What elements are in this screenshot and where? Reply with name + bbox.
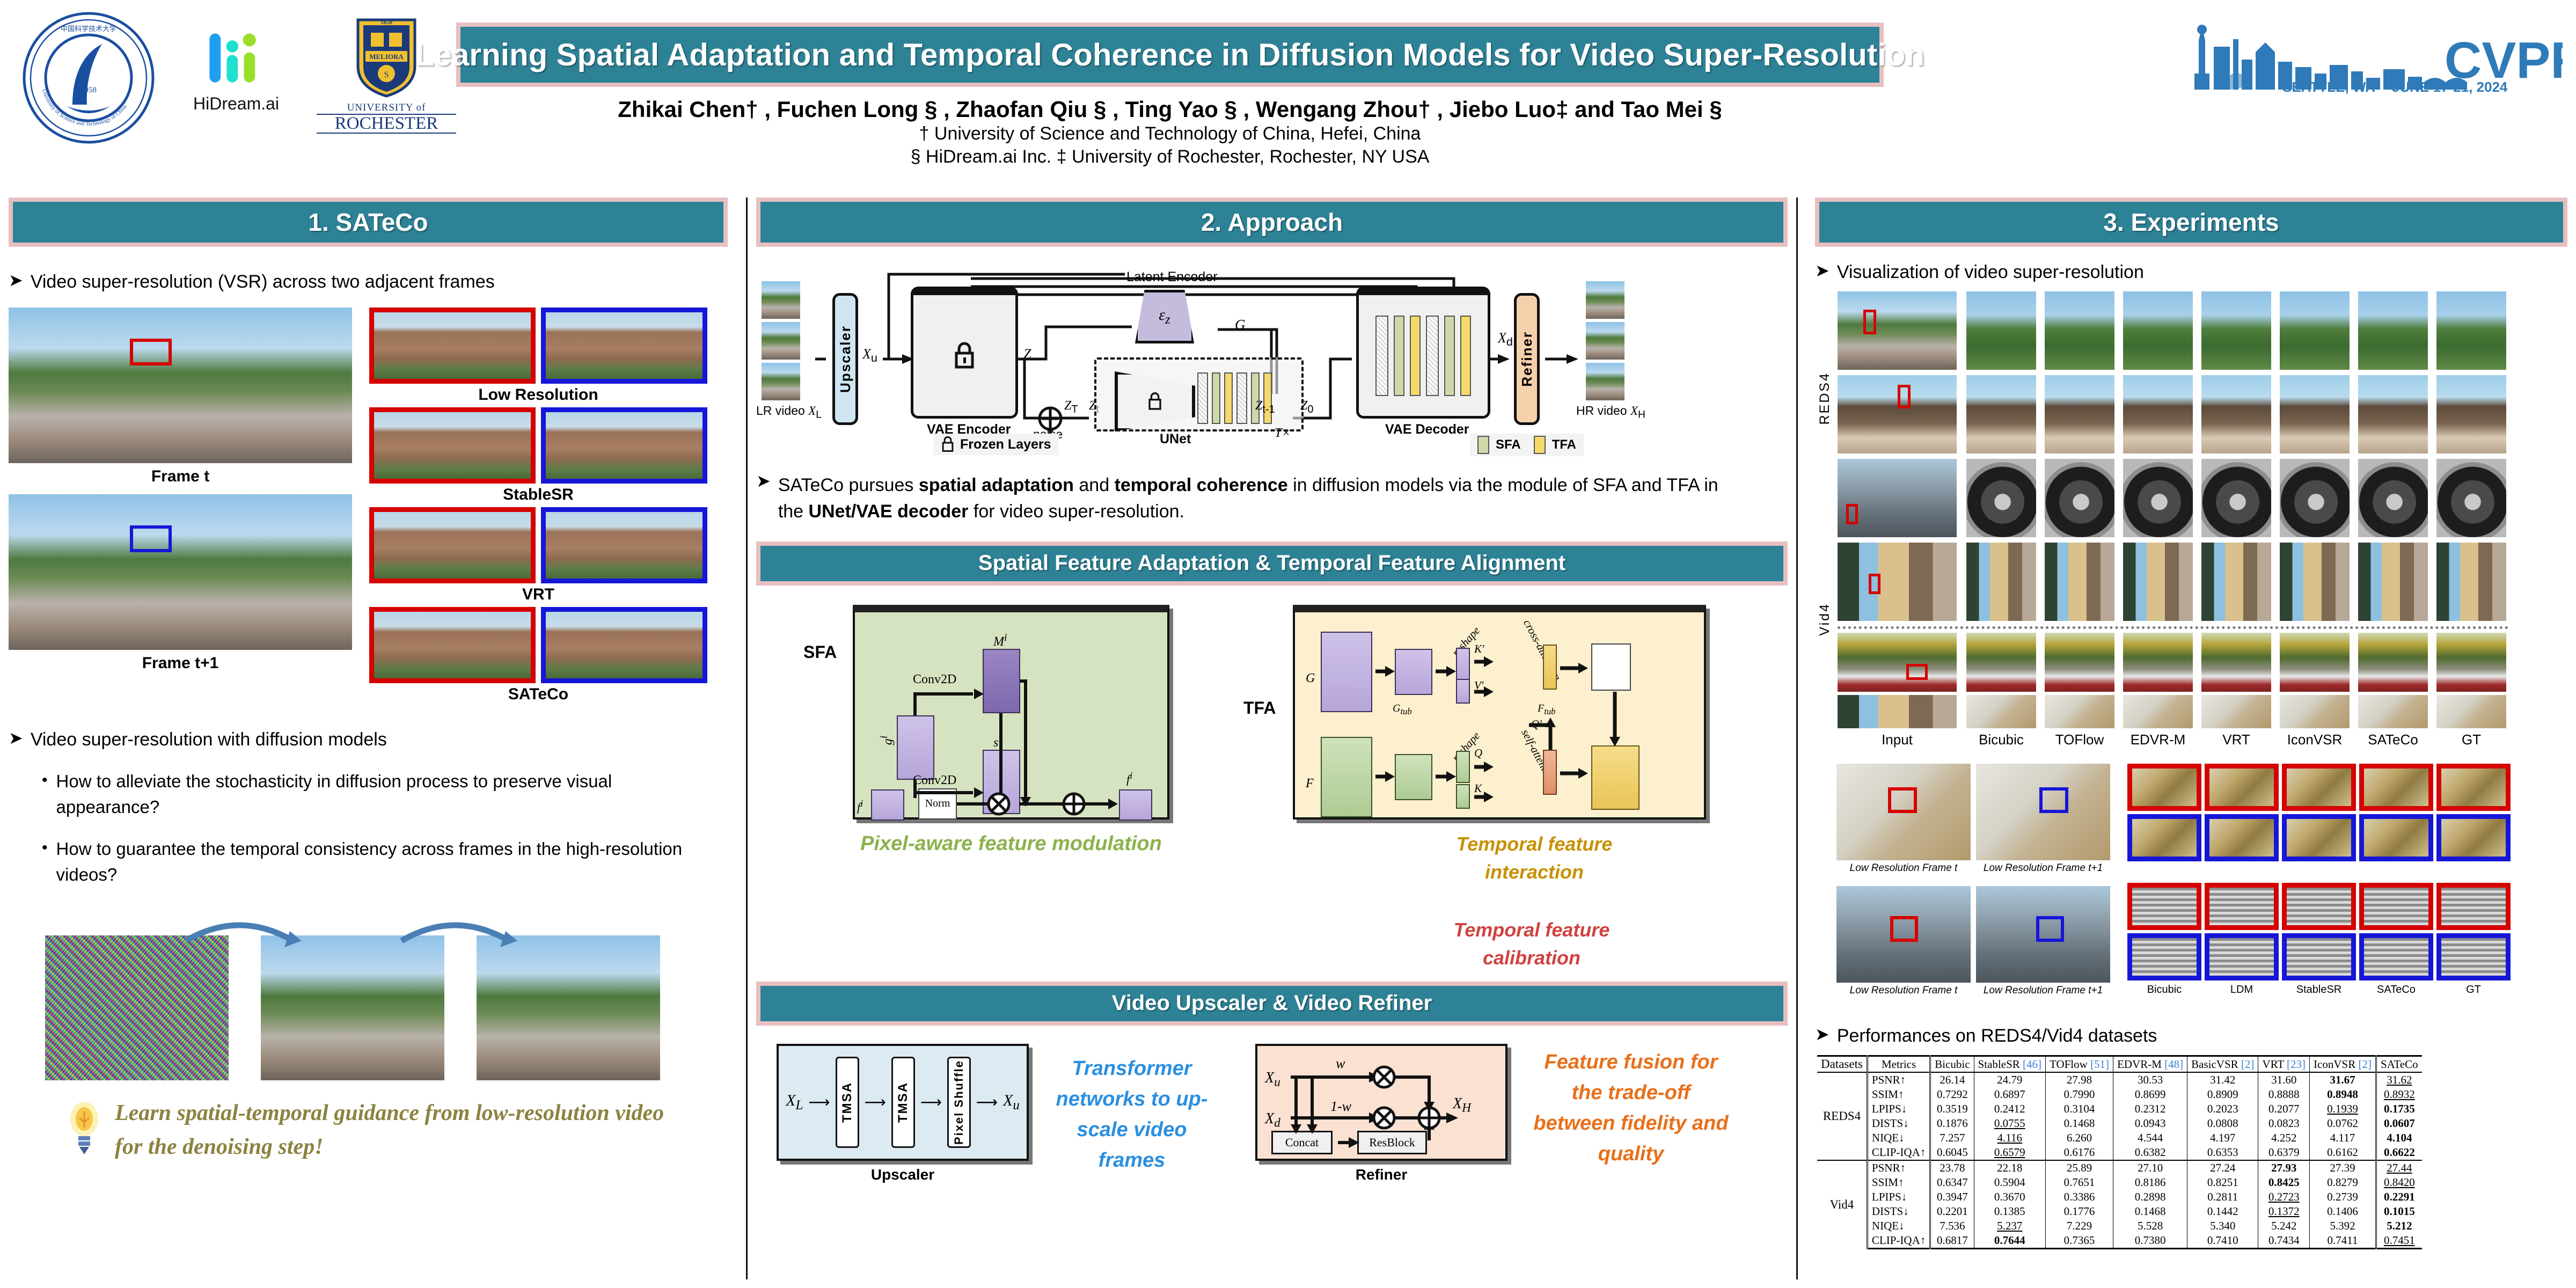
zoom-a-m3-red <box>2359 764 2433 811</box>
frame-t-label: Frame t <box>9 467 352 486</box>
ustc-logo: 1958 中国科学技术大学 University of Science and … <box>21 11 156 145</box>
right-bullet-1-text: Visualization of video super-resolution <box>1837 262 2144 283</box>
zoom-method-label-1: LDM <box>2205 984 2279 996</box>
z0-symbol: Z0 <box>1300 398 1313 416</box>
method-2-blue <box>541 507 707 583</box>
viz-c2-r5 <box>2045 633 2114 692</box>
section-title-upscaler: Video Upscaler & Video Refiner <box>1112 991 1432 1015</box>
table-value-cell: 0.7292 <box>1930 1087 1974 1102</box>
table-value-cell: 23.78 <box>1930 1160 1974 1175</box>
viz-c6-r6 <box>2358 695 2428 728</box>
viz-c1-r3 <box>1966 459 2036 537</box>
viz-c1-r1 <box>1966 291 2036 370</box>
table-value-cell: 0.6353 <box>2187 1145 2258 1160</box>
sfa-tfa-diagrams: SFA gi Conv2D Conv2D Mi si fi Norm fi <box>756 599 1788 857</box>
table-value-cell: 0.2412 <box>1974 1102 2045 1116</box>
zoom-lr-frame-t1-b <box>1976 886 2110 983</box>
viz-c4-r2 <box>2201 375 2271 453</box>
zoom-a-m1-blue <box>2205 814 2279 861</box>
table-value-cell: 0.2739 <box>2310 1190 2376 1204</box>
poster-title-banner: Learning Spatial Adaptation and Temporal… <box>456 23 1884 87</box>
table-value-cell: 0.0823 <box>2258 1116 2310 1131</box>
zoom-b-m3-blue <box>2359 933 2433 980</box>
table-value-cell: 0.6579 <box>1974 1145 2045 1160</box>
table-value-cell: 5.212 <box>2376 1219 2421 1233</box>
table-value-cell: 27.10 <box>2113 1160 2187 1175</box>
right-bullet-2: ➤ Performances on REDS4/Vid4 datasets <box>1815 1026 2567 1046</box>
zoom-a-m1-red <box>2205 764 2279 811</box>
table-col-header: StableSR [46] <box>1974 1056 2045 1073</box>
table-value-cell: 0.8251 <box>2187 1175 2258 1190</box>
upscaler-note: Transformer networks to up-scale video f… <box>1051 1053 1212 1176</box>
table-value-cell: 0.0607 <box>2376 1116 2421 1131</box>
vae-encoder-block <box>911 287 1018 419</box>
viz-roi-box <box>1906 664 1928 680</box>
zoom-method-label-0: Bicubic <box>2127 984 2201 996</box>
viz-c5-r5 <box>2280 633 2350 692</box>
zoom-roi-blue <box>2039 787 2068 813</box>
table-value-cell: 0.6045 <box>1930 1145 1974 1160</box>
table-value-cell: 27.24 <box>2187 1160 2258 1175</box>
method-label-3: SATeCo <box>369 685 707 704</box>
viz-c1-r6 <box>1966 695 2036 728</box>
lr-frame-3 <box>762 363 800 400</box>
method-label-1: StableSR <box>369 486 707 504</box>
table-value-cell: 0.8699 <box>2113 1087 2187 1102</box>
table-value-cell: 0.8279 <box>2310 1175 2376 1190</box>
grid-col-label-2: TOFlow <box>2045 731 2114 748</box>
table-value-cell: 0.1372 <box>2258 1204 2310 1219</box>
zoom-b-m1-red <box>2205 883 2279 930</box>
section-header-3: 3. Experiments <box>1815 197 2567 247</box>
grid-col-label-3: EDVR-M <box>2123 731 2193 748</box>
table-value-cell: 0.6817 <box>1930 1233 1974 1249</box>
table-value-cell: 0.3519 <box>1930 1102 1974 1116</box>
table-value-cell: 7.229 <box>2046 1219 2113 1233</box>
refiner-block: Refiner <box>1514 293 1540 425</box>
table-value-cell: 0.7990 <box>2046 1087 2113 1102</box>
viz-c3-r4 <box>2123 543 2193 621</box>
visualization-grid: REDS4 Vid4 <box>1815 291 2567 758</box>
author-block: Zhikai Chen† , Fuchen Long § , Zhaofan Q… <box>456 97 1884 168</box>
viz-input-r3 <box>1838 459 1957 537</box>
left-subbullet-1-text: How to alleviate the stochasticity in di… <box>56 769 686 820</box>
table-value-cell: 0.1015 <box>2376 1204 2421 1219</box>
grid-col-label-4: VRT <box>2201 731 2271 748</box>
table-value-cell: 31.62 <box>2376 1072 2421 1087</box>
section-header-2: 2. Approach <box>756 197 1788 247</box>
table-value-cell: 31.67 <box>2310 1072 2376 1087</box>
frame-t-roi-box <box>130 339 172 365</box>
table-metric-cell: CLIP-IQA↑ <box>1867 1145 1930 1160</box>
dot-bullet-icon: • <box>42 769 48 792</box>
table-value-cell: 0.1442 <box>2187 1204 2258 1219</box>
viz-c2-r3 <box>2045 459 2114 537</box>
table-value-cell: 0.8888 <box>2258 1087 2310 1102</box>
hr-frame-1 <box>1586 281 1624 319</box>
viz-c2-r4 <box>2045 543 2114 621</box>
table-value-cell: 0.6622 <box>2376 1145 2421 1160</box>
legend-sfa-tfa: SFA TFA <box>1470 434 1584 456</box>
viz-c7-r3 <box>2436 459 2506 537</box>
zoom-a-m3-blue <box>2359 814 2433 861</box>
table-row: REDS4PSNR↑26.1424.7927.9830.5331.4231.60… <box>1817 1072 2422 1087</box>
table-row: CLIP-IQA↑0.60450.65790.61760.63820.63530… <box>1817 1145 2422 1160</box>
tfa-connectors-icon <box>1295 612 1708 827</box>
table-value-cell: 0.2201 <box>1930 1204 1974 1219</box>
table-value-cell: 0.7410 <box>2187 1233 2258 1249</box>
table-value-cell: 24.79 <box>1974 1072 2045 1087</box>
table-value-cell: 0.0808 <box>2187 1116 2258 1131</box>
table-value-cell: 0.6379 <box>2258 1145 2310 1160</box>
zoom-roi-red <box>1890 916 1918 942</box>
hr-video-label: HR video XH <box>1576 404 1645 421</box>
table-metric-cell: LPIPS↓ <box>1867 1102 1930 1116</box>
table-value-cell: 0.8425 <box>2258 1175 2310 1190</box>
hr-frame-2 <box>1586 322 1624 360</box>
table-value-cell: 7.257 <box>1930 1131 1974 1145</box>
table-value-cell: 0.6162 <box>2310 1145 2376 1160</box>
table-row: NIQE↓7.2574.1166.2604.5444.1974.2524.117… <box>1817 1131 2422 1145</box>
takeaway-block: Learn spatial-temporal guidance from low… <box>9 1096 728 1164</box>
upscaler-block: Upscaler <box>832 293 858 425</box>
svg-text:1958: 1958 <box>80 86 97 94</box>
arrow-right-icon: ⟶ <box>920 1093 942 1111</box>
lock-icon <box>1147 392 1162 411</box>
section-title-2: 2. Approach <box>1201 208 1343 237</box>
viz-c3-r1 <box>2123 291 2193 370</box>
table-value-cell: 31.42 <box>2187 1072 2258 1087</box>
table-value-cell: 0.1735 <box>2376 1102 2421 1116</box>
lightbulb-icon <box>68 1096 101 1155</box>
table-value-cell: 0.2898 <box>2113 1190 2187 1204</box>
table-value-cell: 27.98 <box>2046 1072 2113 1087</box>
performance-table-head: DatasetsMetricsBicubicStableSR [46]TOFlo… <box>1817 1056 2422 1073</box>
zoom-b-m4-red <box>2436 883 2511 930</box>
legend-frozen: Frozen Layers <box>933 434 1059 455</box>
left-bullet-2: ➤ Video super-resolution with diffusion … <box>9 729 728 750</box>
viz-c3-r5 <box>2123 633 2193 692</box>
zT-symbol: ZT <box>1064 398 1078 416</box>
right-bullet-2-text: Performances on REDS4/Vid4 datasets <box>1837 1026 2157 1046</box>
table-value-cell: 0.2077 <box>2258 1102 2310 1116</box>
viz-roi-box <box>1846 504 1858 524</box>
frame-t1-roi-box <box>130 525 172 552</box>
zoom-comparison-panel: Low Resolution Frame t Low Resolution Fr… <box>1815 764 2567 1021</box>
table-value-cell: 4.117 <box>2310 1131 2376 1145</box>
table-metric-cell: NIQE↓ <box>1867 1131 1930 1145</box>
viz-c7-r6 <box>2436 695 2506 728</box>
table-value-cell: 0.1468 <box>2113 1204 2187 1219</box>
tfa-label: TFA <box>1243 698 1276 718</box>
table-value-cell: 0.2811 <box>2187 1190 2258 1204</box>
table-row: SSIM↑0.72920.68970.79900.86990.89090.888… <box>1817 1087 2422 1102</box>
table-col-header: Datasets <box>1817 1056 1867 1073</box>
svg-text:MELIORA: MELIORA <box>369 53 404 61</box>
method-3-blue <box>541 607 707 683</box>
refiner-caption-label: Refiner <box>1255 1166 1507 1183</box>
performance-table-wrap: DatasetsMetricsBicubicStableSR [46]TOFlo… <box>1817 1055 2567 1249</box>
zoom-b-m3-red <box>2359 883 2433 930</box>
cvpr-logo: CVPR SEATTLE, WA JUNE 17-21, 2024 <box>2192 13 2563 94</box>
denoising-strip <box>9 910 728 1087</box>
upscaler-block-tmsa-1: TMSA <box>836 1057 859 1148</box>
viz-c2-r2 <box>2045 375 2114 453</box>
table-col-header: Metrics <box>1867 1056 1930 1073</box>
table-col-header: BasicVSR [2] <box>2187 1056 2258 1073</box>
viz-c3-r3 <box>2123 459 2193 537</box>
zoom-method-label-2: StableSR <box>2282 984 2356 996</box>
table-value-cell: 0.6897 <box>1974 1087 2045 1102</box>
viz-c7-r4 <box>2436 543 2506 621</box>
table-value-cell: 0.8420 <box>2376 1175 2421 1190</box>
rochester-logo: 1850 MELIORA S UNIVERSITY of ROCHESTER <box>317 13 456 142</box>
arrow-bullet-icon: ➤ <box>9 272 23 290</box>
viz-c1-r5 <box>1966 633 2036 692</box>
viz-c7-r1 <box>2436 291 2506 370</box>
viz-c5-r6 <box>2280 695 2350 728</box>
refiner-connectors-icon <box>1257 1046 1510 1163</box>
table-value-cell: 5.242 <box>2258 1219 2310 1233</box>
poster-header: 1958 中国科学技术大学 University of Science and … <box>0 0 2576 182</box>
table-dataset-cell: REDS4 <box>1817 1072 1867 1160</box>
upscaler-block-pixel-shuffle: Pixel Shuffle <box>947 1057 971 1148</box>
grid-col-label-0: Input <box>1838 731 1957 748</box>
table-value-cell: 0.2723 <box>2258 1190 2310 1204</box>
rochester-bottom-text: ROCHESTER <box>317 114 456 134</box>
table-metric-cell: SSIM↑ <box>1867 1175 1930 1190</box>
z-symbol: Z <box>1023 346 1031 362</box>
table-value-cell: 31.60 <box>2258 1072 2310 1087</box>
zoom-a-m0-red <box>2127 764 2201 811</box>
method-1-red <box>369 407 536 484</box>
viz-c1-r4 <box>1966 543 2036 621</box>
zoom-lr-frame-t1-a <box>1976 764 2110 860</box>
table-value-cell: 0.0943 <box>2113 1116 2187 1131</box>
grid-row-label-reds4: REDS4 <box>1817 372 1833 425</box>
method-0-red <box>369 308 536 384</box>
table-value-cell: 0.8932 <box>2376 1087 2421 1102</box>
table-col-header: VRT [23] <box>2258 1056 2310 1073</box>
viz-input-r1 <box>1838 291 1957 370</box>
svg-text:S: S <box>384 70 389 79</box>
upscaler-refiner-diagrams: XL ⟶ TMSA ⟶ TMSA ⟶ Pixel Shuffle ⟶ Xu Up… <box>756 1044 1788 1199</box>
table-row: DISTS↓0.22010.13850.17760.14680.14420.13… <box>1817 1204 2422 1219</box>
page-title: Learning Spatial Adaptation and Temporal… <box>415 37 1924 73</box>
right-bullet-1: ➤ Visualization of video super-resolutio… <box>1815 262 2567 283</box>
viz-input-r4 <box>1838 543 1957 621</box>
table-row: NIQE↓7.5365.2377.2295.5285.3405.2425.392… <box>1817 1219 2422 1233</box>
denoise-arrows-icon <box>9 910 728 974</box>
viz-c5-r3 <box>2280 459 2350 537</box>
viz-c4-r6 <box>2201 695 2271 728</box>
table-value-cell: 26.14 <box>1930 1072 1974 1087</box>
viz-c6-r4 <box>2358 543 2428 621</box>
hidream-logo: HiDream.ai <box>177 26 295 141</box>
table-value-cell: 0.3104 <box>2046 1102 2113 1116</box>
svg-text:1850: 1850 <box>380 19 393 26</box>
method-label-2: VRT <box>369 586 707 604</box>
table-value-cell: 0.0762 <box>2310 1116 2376 1131</box>
table-value-cell: 0.0755 <box>1974 1116 2045 1131</box>
table-value-cell: 0.7651 <box>2046 1175 2113 1190</box>
column-sateco: 1. SATeCo ➤ Video super-resolution (VSR)… <box>9 197 728 1279</box>
refiner-note: Feature fusion for the trade-off between… <box>1529 1047 1733 1169</box>
sfa-diagram-box: gi Conv2D Conv2D Mi si fi Norm fi <box>853 605 1169 819</box>
table-metric-cell: CLIP-IQA↑ <box>1867 1233 1930 1249</box>
upscaler-output-symbol: Xu <box>1003 1092 1020 1113</box>
viz-roi-box <box>1898 385 1911 408</box>
viz-c1-r2 <box>1966 375 2036 453</box>
left-bullet-2-text: Video super-resolution with diffusion mo… <box>31 729 387 750</box>
arrow-bullet-icon: ➤ <box>1815 1026 1829 1044</box>
viz-c4-r3 <box>2201 459 2271 537</box>
grid-col-label-6: SATeCo <box>2358 731 2428 748</box>
table-value-cell: 0.6382 <box>2113 1145 2187 1160</box>
grid-row-label-vid4: Vid4 <box>1817 603 1833 636</box>
method-0-blue <box>541 308 707 384</box>
table-value-cell: 25.89 <box>2046 1160 2113 1175</box>
table-value-cell: 4.116 <box>1974 1131 2045 1145</box>
viz-input-r6 <box>1838 695 1957 728</box>
lr-frame-2 <box>762 322 800 360</box>
latent-encoder-label: Latent Encoder <box>1126 269 1218 285</box>
zoom-b-m2-blue <box>2282 933 2356 980</box>
table-value-cell: 0.7434 <box>2258 1233 2310 1249</box>
upscaler-caption-label: Upscaler <box>777 1166 1029 1183</box>
table-value-cell: 30.53 <box>2113 1072 2187 1087</box>
zoom-lr-frame-t-b <box>1836 886 1971 983</box>
zoom-b-m1-blue <box>2205 933 2279 980</box>
frame-t-image <box>9 308 352 463</box>
viz-c6-r5 <box>2358 633 2428 692</box>
table-metric-cell: SSIM↑ <box>1867 1087 1930 1102</box>
table-value-cell: 0.1406 <box>2310 1204 2376 1219</box>
viz-c6-r3 <box>2358 459 2428 537</box>
table-value-cell: 0.5904 <box>1974 1175 2045 1190</box>
table-value-cell: 0.6176 <box>2046 1145 2113 1160</box>
lr-frame-1 <box>762 281 800 319</box>
zoom-roi-blue <box>2036 916 2064 942</box>
section-header-1: 1. SATeCo <box>9 197 728 247</box>
method-label-0: Low Resolution <box>369 386 707 404</box>
section-header-upscaler: Video Upscaler & Video Refiner <box>756 982 1788 1026</box>
section-title-3: 3. Experiments <box>2103 208 2279 237</box>
cvpr-dates: JUNE 17-21, 2024 <box>2392 79 2508 94</box>
g-symbol: G <box>1235 317 1246 333</box>
lock-icon <box>953 341 976 370</box>
method-2-red <box>369 507 536 583</box>
sfa-caption: Pixel-aware feature modulation <box>852 829 1170 859</box>
table-value-cell: 0.3947 <box>1930 1190 1974 1204</box>
hr-frame-3 <box>1586 363 1624 400</box>
grid-divider <box>1838 626 2508 629</box>
zoom-method-label-4: GT <box>2436 984 2511 996</box>
table-value-cell: 5.392 <box>2310 1219 2376 1233</box>
upscaler-input-symbol: XL <box>786 1092 803 1113</box>
table-value-cell: 0.2023 <box>2187 1102 2258 1116</box>
table-value-cell: 0.1385 <box>1974 1204 2045 1219</box>
section-header-sfa-tfa: Spatial Feature Adaptation & Temporal Fe… <box>756 541 1788 586</box>
table-value-cell: 0.7644 <box>1974 1233 2045 1249</box>
arch-legend: Frozen Layers SFA TFA <box>756 434 1788 464</box>
viz-c4-r1 <box>2201 291 2271 370</box>
poster-root: 1958 中国科学技术大学 University of Science and … <box>0 0 2576 1288</box>
vae-decoder-block <box>1356 287 1490 419</box>
zoom-a-m2-red <box>2282 764 2356 811</box>
table-value-cell: 0.7380 <box>2113 1233 2187 1249</box>
author-list: Zhikai Chen† , Fuchen Long § , Zhaofan Q… <box>456 97 1884 122</box>
table-value-cell: 4.104 <box>2376 1131 2421 1145</box>
table-row: CLIP-IQA↑0.68170.76440.73650.73800.74100… <box>1817 1233 2422 1249</box>
table-metric-cell: DISTS↓ <box>1867 1204 1930 1219</box>
viz-c3-r6 <box>2123 695 2193 728</box>
viz-input-r5 <box>1838 633 1957 692</box>
table-value-cell: 0.6347 <box>1930 1175 1974 1190</box>
table-value-cell: 7.536 <box>1930 1219 1974 1233</box>
viz-c2-r6 <box>2045 695 2114 728</box>
table-col-header: SATeCo <box>2376 1056 2421 1073</box>
zoom-label-t1-a: Low Resolution Frame t+1 <box>1976 862 2110 874</box>
legend-tfa-swatch <box>1534 436 1546 454</box>
viz-c6-r2 <box>2358 375 2428 453</box>
zoom-b-m2-red <box>2282 883 2356 930</box>
zoom-a-m4-blue <box>2436 814 2511 861</box>
table-row: DISTS↓0.18760.07550.14680.09430.08080.08… <box>1817 1116 2422 1131</box>
arrow-right-icon: ⟶ <box>976 1093 998 1111</box>
arrow-right-icon: ⟶ <box>808 1093 830 1111</box>
hr-video-frames <box>1586 281 1624 400</box>
vsr-comparison-grid: Frame t Frame t+1 Low Resolution StableS… <box>9 308 728 678</box>
viz-c5-r1 <box>2280 291 2350 370</box>
table-row: LPIPS↓0.39470.36700.33860.28980.28110.27… <box>1817 1190 2422 1204</box>
zoom-a-m4-red <box>2436 764 2511 811</box>
zoom-a-m0-blue <box>2127 814 2201 861</box>
zt-1-symbol: Zt-1 <box>1255 398 1275 416</box>
arrow-bullet-icon: ➤ <box>9 729 23 748</box>
left-subbullet-2-text: How to guarantee the temporal consistenc… <box>56 836 702 888</box>
viz-c3-r2 <box>2123 375 2193 453</box>
grid-col-label-7: GT <box>2436 731 2506 748</box>
table-row: SSIM↑0.63470.59040.76510.81860.82510.842… <box>1817 1175 2422 1190</box>
left-bullet-1: ➤ Video super-resolution (VSR) across tw… <box>9 272 728 292</box>
architecture-diagram: LR video XL Upscaler Xu VAE Encoder Z <box>756 265 1776 431</box>
table-col-header: EDVR-M [48] <box>2113 1056 2187 1073</box>
refiner-diagram-box: Xu Xd w 1-w XH Concat ResBlock <box>1255 1044 1507 1161</box>
table-dataset-cell: Vid4 <box>1817 1160 1867 1249</box>
zoom-label-t1-b: Low Resolution Frame t+1 <box>1976 985 2110 997</box>
table-header-row: DatasetsMetricsBicubicStableSR [46]TOFlo… <box>1817 1056 2422 1073</box>
table-value-cell: 0.2291 <box>2376 1190 2421 1204</box>
zoom-b-m0-blue <box>2127 933 2201 980</box>
table-value-cell: 22.18 <box>1974 1160 2045 1175</box>
lr-video-label: LR video XL <box>756 404 822 421</box>
column-approach: 2. Approach <box>746 197 1798 1279</box>
table-value-cell: 0.8186 <box>2113 1175 2187 1190</box>
svg-text:中国科学技术大学: 中国科学技术大学 <box>61 25 116 33</box>
table-value-cell: 27.93 <box>2258 1160 2310 1175</box>
arrow-bullet-icon: ➤ <box>756 472 771 491</box>
table-metric-cell: LPIPS↓ <box>1867 1190 1930 1204</box>
table-metric-cell: NIQE↓ <box>1867 1219 1930 1233</box>
viz-c2-r1 <box>2045 291 2114 370</box>
table-col-header: Bicubic <box>1930 1056 1974 1073</box>
affiliation-1: † University of Science and Technology o… <box>456 122 1884 145</box>
xd-symbol: Xd <box>1498 330 1513 349</box>
table-value-cell: 0.7365 <box>2046 1233 2113 1249</box>
viz-roi-box <box>1869 574 1880 594</box>
table-value-cell: 4.544 <box>2113 1131 2187 1145</box>
